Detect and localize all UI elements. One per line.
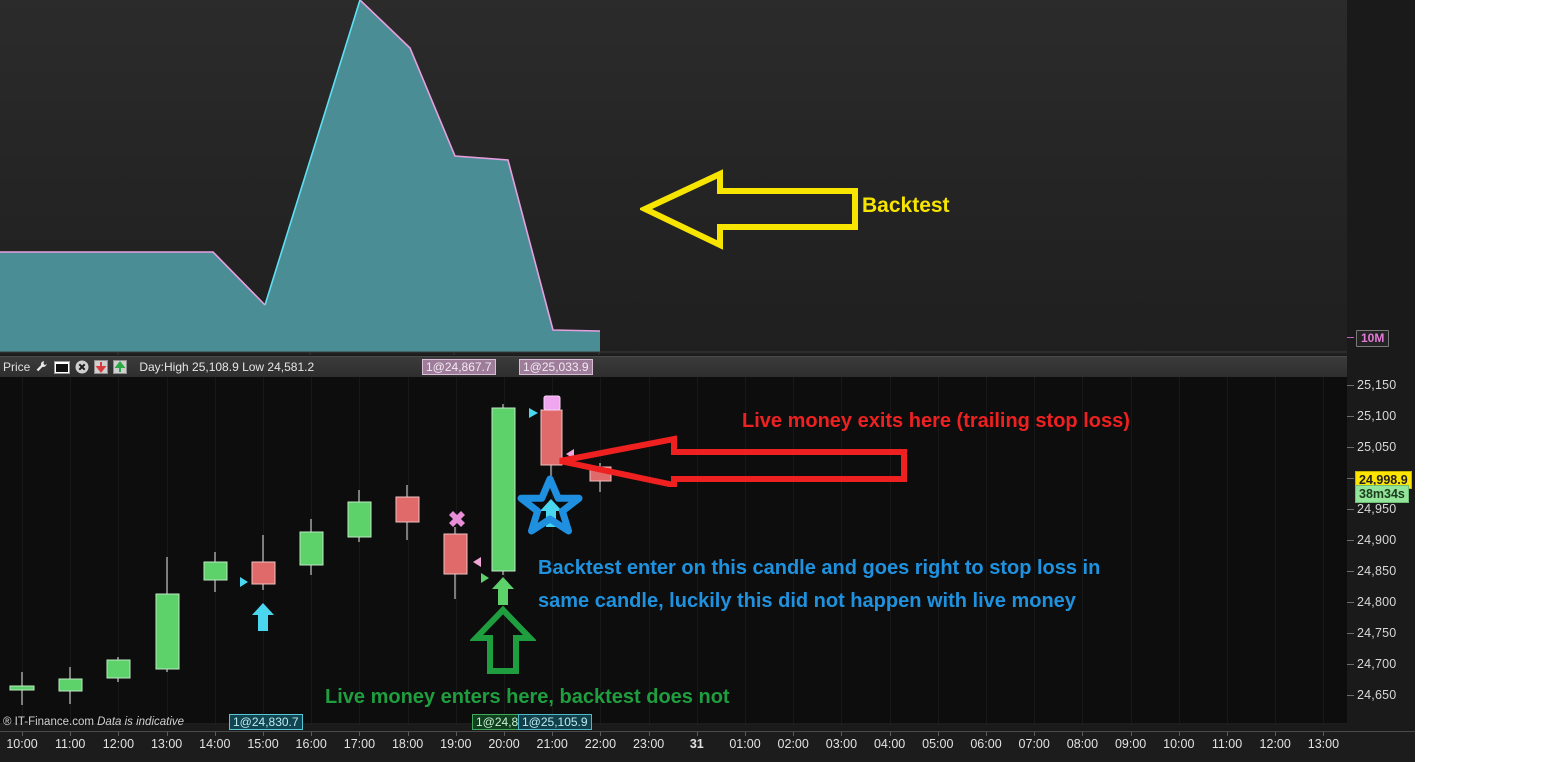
time-tick (841, 732, 842, 736)
live-exit-label: Live money exits here (trailing stop los… (742, 410, 1130, 433)
time-tick (600, 732, 601, 736)
time-axis-label: 23:00 (633, 737, 664, 751)
time-axis-label: 14:00 (199, 737, 230, 751)
candle (10, 672, 34, 705)
price-axis[interactable]: 10M 25,150 25,100 25,050 24,950 24,900 2… (1347, 0, 1415, 762)
watermark-note: Data is indicative (97, 716, 184, 728)
time-tick (311, 732, 312, 736)
candle (396, 485, 419, 540)
equity-curve-panel[interactable] (0, 0, 1347, 355)
price-toolbar[interactable]: Price (0, 356, 1347, 378)
price-tick-label: 24,700 (1357, 657, 1396, 671)
time-tick (697, 732, 698, 736)
time-tick (70, 732, 71, 736)
time-axis-label: 15:00 (247, 737, 278, 751)
time-tick (359, 732, 360, 736)
sell-down-arrow-icon[interactable] (94, 360, 108, 374)
time-tick (215, 732, 216, 736)
candlestick-svg (0, 377, 1347, 725)
time-axis[interactable]: 10:0011:0012:0013:0014:0015:0016:0017:00… (0, 731, 1415, 762)
backtest-arrow-icon (640, 165, 862, 251)
price-tick-label: 24,750 (1357, 626, 1396, 640)
backtest-label: Backtest (862, 194, 950, 218)
signal-triangle-left (473, 557, 481, 567)
time-axis-label: 07:00 (1019, 737, 1050, 751)
time-tick (167, 732, 168, 736)
close-circle-icon[interactable] (75, 360, 89, 374)
time-axis-label: 13:00 (1308, 737, 1339, 751)
order-badge[interactable]: 1@24,867.7 (422, 359, 496, 375)
time-tick (1082, 732, 1083, 736)
time-axis-label: 04:00 (874, 737, 905, 751)
time-axis-label: 31 (690, 737, 704, 751)
time-axis-label: 16:00 (296, 737, 327, 751)
time-tick (649, 732, 650, 736)
time-axis-label: 05:00 (922, 737, 953, 751)
volume-scale-badge: 10M (1356, 330, 1389, 347)
time-tick (1323, 732, 1324, 736)
candle (444, 527, 467, 599)
time-axis-label: 19:00 (440, 737, 471, 751)
time-tick (1227, 732, 1228, 736)
signal-triangle-right (240, 577, 248, 587)
candle (107, 657, 130, 682)
time-tick (1131, 732, 1132, 736)
time-axis-label: 10:00 (1163, 737, 1194, 751)
time-axis-label: 11:00 (55, 737, 85, 751)
time-axis-label: 18:00 (392, 737, 423, 751)
candle (204, 552, 227, 592)
time-axis-label: 12:00 (1260, 737, 1291, 751)
time-tick (118, 732, 119, 736)
candle (59, 667, 82, 704)
price-tick-label: 25,100 (1357, 409, 1396, 423)
time-tick (1179, 732, 1180, 736)
time-axis-label: 21:00 (537, 737, 568, 751)
price-tick-label: 24,900 (1357, 533, 1396, 547)
backtest-enter-line2: same candle, luckily this did not happen… (538, 585, 1100, 618)
time-axis-label: 22:00 (585, 737, 616, 751)
time-axis-label: 10:00 (6, 737, 37, 751)
price-tick-label: 25,050 (1357, 440, 1396, 454)
candle (252, 535, 275, 590)
time-tick (890, 732, 891, 736)
trading-chart-app: Backtest Price (0, 0, 1415, 762)
signal-triangle-right (481, 573, 489, 583)
candle-countdown-badge: 38m34s (1355, 485, 1409, 503)
time-axis-label: 13:00 (151, 737, 182, 751)
signal-triangle-right (529, 408, 538, 418)
equity-area-fill (0, 0, 600, 352)
order-badge[interactable]: 1@25,033.9 (519, 359, 593, 375)
candle (492, 404, 515, 575)
time-tick (263, 732, 264, 736)
wrench-icon[interactable] (35, 360, 49, 374)
time-tick (552, 732, 553, 736)
entry-arrow-up (252, 603, 274, 631)
time-tick (938, 732, 939, 736)
price-tick-label: 24,650 (1357, 688, 1396, 702)
time-axis-label: 06:00 (970, 737, 1001, 751)
time-tick (408, 732, 409, 736)
time-axis-label: 12:00 (103, 737, 134, 751)
position-badge[interactable]: 1@25,105.9 (518, 714, 592, 730)
live-exit-arrow-icon (556, 435, 908, 487)
time-tick (793, 732, 794, 736)
watermark: ® IT-Finance.com Data is indicative (3, 716, 184, 728)
watermark-copyright: ® IT-Finance.com (3, 716, 94, 728)
price-tick-label: 25,150 (1357, 378, 1396, 392)
price-tick-label: 24,950 (1357, 502, 1396, 516)
day-high-low-info: Day:High 25,108.9 Low 24,581.2 (139, 360, 314, 374)
time-axis-label: 03:00 (826, 737, 857, 751)
time-axis-label: 20:00 (488, 737, 519, 751)
price-tick-label: 24,800 (1357, 595, 1396, 609)
time-tick (456, 732, 457, 736)
exit-cross-marker (449, 511, 465, 527)
candle (300, 519, 323, 575)
time-axis-label: 11:00 (1212, 737, 1242, 751)
candle (348, 490, 371, 542)
price-candle-panel[interactable] (0, 377, 1347, 725)
time-axis-label: 17:00 (344, 737, 375, 751)
time-axis-label: 09:00 (1115, 737, 1146, 751)
backtest-enter-line1: Backtest enter on this candle and goes r… (538, 552, 1100, 585)
square-icon[interactable] (54, 361, 70, 374)
entry-arrow-up (492, 577, 514, 605)
backtest-enter-label: Backtest enter on this candle and goes r… (538, 552, 1100, 618)
time-axis-label: 08:00 (1067, 737, 1098, 751)
time-tick (1034, 732, 1035, 736)
time-tick (1275, 732, 1276, 736)
candle (156, 557, 179, 672)
time-axis-label: 02:00 (778, 737, 809, 751)
time-tick (745, 732, 746, 736)
time-tick (504, 732, 505, 736)
time-axis-label: 01:00 (729, 737, 760, 751)
buy-up-arrow-icon[interactable] (113, 360, 127, 374)
open-position-square (544, 396, 560, 410)
position-badge[interactable]: 1@24,830.7 (229, 714, 303, 730)
live-enter-arrow-icon (470, 605, 536, 675)
toolbar-title: Price (3, 360, 30, 374)
time-tick (986, 732, 987, 736)
price-tick-label: 24,850 (1357, 564, 1396, 578)
live-enter-label: Live money enters here, backtest does no… (325, 686, 730, 709)
time-tick (22, 732, 23, 736)
